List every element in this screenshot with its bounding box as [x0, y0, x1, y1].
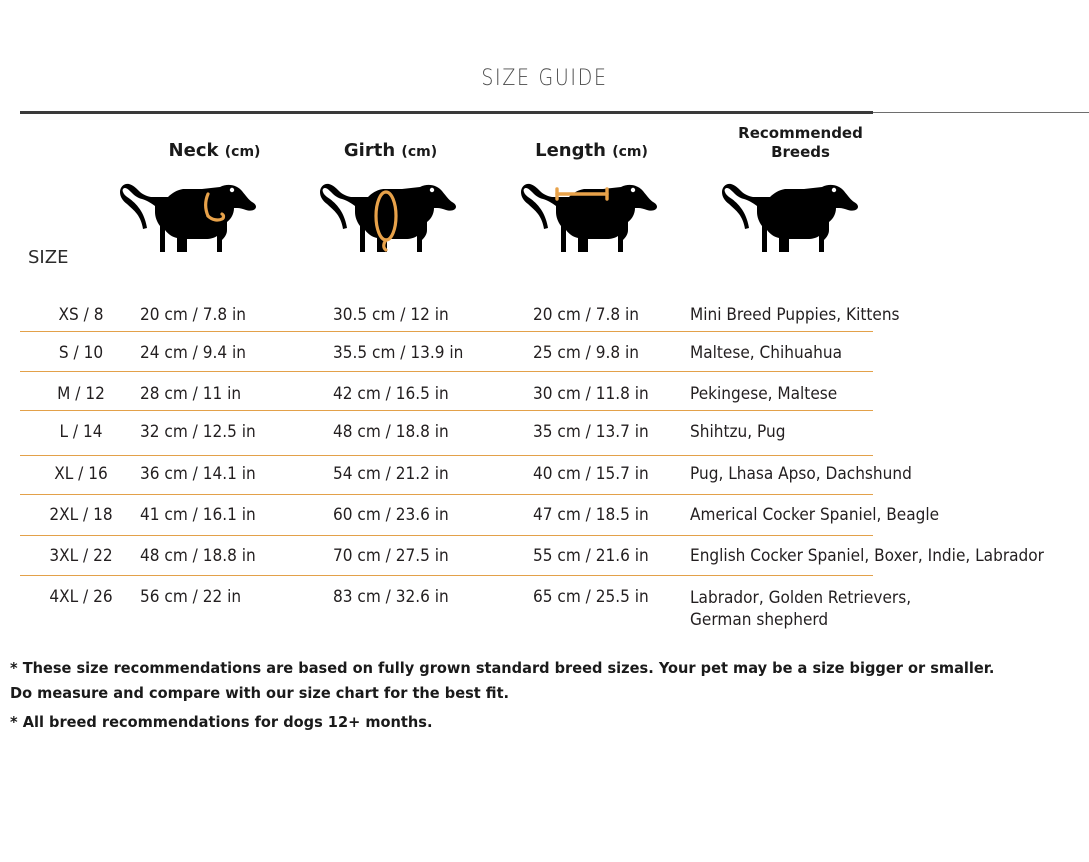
table-row: M / 12 28 cm / 11 in 42 cm / 16.5 in 30 … — [0, 384, 1089, 423]
cell-girth: 48 cm / 18.8 in — [333, 422, 449, 441]
header-rule — [20, 111, 873, 114]
cell-breeds: English Cocker Spaniel, Boxer, Indie, La… — [690, 546, 1044, 565]
row-divider — [20, 575, 873, 576]
footnote-breed-age: * All breed recommendations for dogs 12+… — [10, 710, 432, 735]
cell-length: 55 cm / 21.6 in — [533, 546, 649, 565]
cell-neck: 24 cm / 9.4 in — [140, 343, 246, 362]
page-title: SIZE GUIDE — [76, 66, 1013, 91]
table-row: 4XL / 26 56 cm / 22 in 83 cm / 32.6 in 6… — [0, 587, 1089, 643]
cell-breeds: Labrador, Golden Retrievers, German shep… — [690, 587, 911, 631]
cell-size: M / 12 — [30, 384, 132, 403]
cell-breeds: Pekingese, Maltese — [690, 384, 837, 403]
cell-size: S / 10 — [30, 343, 132, 362]
cell-girth: 70 cm / 27.5 in — [333, 546, 449, 565]
column-header-girth: Girth (cm) — [316, 140, 465, 161]
cell-length: 40 cm / 15.7 in — [533, 464, 649, 483]
dog-silhouette-icon-box — [718, 170, 867, 274]
dog-girth-measure-icon-box — [316, 170, 465, 274]
column-header-breeds-line2: Breeds — [718, 143, 883, 162]
cell-length: 30 cm / 11.8 in — [533, 384, 649, 403]
table-row: S / 10 24 cm / 9.4 in 35.5 cm / 13.9 in … — [0, 343, 1089, 382]
column-header-girth-label: Girth — [344, 140, 395, 161]
cell-girth: 35.5 cm / 13.9 in — [333, 343, 463, 362]
cell-size: 3XL / 22 — [30, 546, 132, 565]
row-divider — [20, 455, 873, 456]
cell-girth: 30.5 cm / 12 in — [333, 305, 449, 324]
table-row: XL / 16 36 cm / 14.1 in 54 cm / 21.2 in … — [0, 464, 1089, 503]
column-header-neck: Neck (cm) — [140, 140, 289, 161]
cell-breeds: Mini Breed Puppies, Kittens — [690, 305, 900, 324]
row-divider — [20, 410, 873, 411]
table-row: 3XL / 22 48 cm / 18.8 in 70 cm / 27.5 in… — [0, 546, 1089, 585]
cell-neck: 20 cm / 7.8 in — [140, 305, 246, 324]
cell-length: 20 cm / 7.8 in — [533, 305, 639, 324]
cell-breeds: Pug, Lhasa Apso, Dachshund — [690, 464, 912, 483]
cell-length: 25 cm / 9.8 in — [533, 343, 639, 362]
footnote-sizing: * These size recommendations are based o… — [10, 656, 994, 706]
cell-girth: 83 cm / 32.6 in — [333, 587, 449, 606]
dog-length-measure-icon — [517, 170, 663, 271]
cell-length: 35 cm / 13.7 in — [533, 422, 649, 441]
cell-neck: 56 cm / 22 in — [140, 587, 241, 606]
column-header-neck-unit: (cm) — [225, 144, 261, 160]
cell-neck: 48 cm / 18.8 in — [140, 546, 256, 565]
cell-size: XS / 8 — [30, 305, 132, 324]
row-divider — [20, 535, 873, 536]
column-header-length-unit: (cm) — [612, 144, 648, 160]
cell-neck: 41 cm / 16.1 in — [140, 505, 256, 524]
header-rule-extension — [873, 112, 1089, 113]
cell-girth: 60 cm / 23.6 in — [333, 505, 449, 524]
cell-size: 4XL / 26 — [30, 587, 132, 606]
column-header-length: Length (cm) — [517, 140, 666, 161]
cell-length: 65 cm / 25.5 in — [533, 587, 649, 606]
column-header-breeds-line1: Recommended — [718, 124, 883, 143]
size-column-label: SIZE — [28, 247, 68, 268]
cell-size: 2XL / 18 — [30, 505, 132, 524]
column-header-recommended-breeds: Recommended Breeds — [718, 124, 883, 162]
dog-silhouette-icon — [718, 170, 864, 271]
table-row: XS / 8 20 cm / 7.8 in 30.5 cm / 12 in 20… — [0, 305, 1089, 344]
cell-neck: 28 cm / 11 in — [140, 384, 241, 403]
cell-size: XL / 16 — [30, 464, 132, 483]
cell-size: L / 14 — [30, 422, 132, 441]
dog-girth-measure-icon — [316, 170, 462, 271]
table-row: 2XL / 18 41 cm / 16.1 in 60 cm / 23.6 in… — [0, 505, 1089, 544]
row-divider — [20, 331, 873, 332]
column-header-girth-unit: (cm) — [401, 144, 437, 160]
cell-neck: 32 cm / 12.5 in — [140, 422, 256, 441]
cell-breeds: Maltese, Chihuahua — [690, 343, 842, 362]
column-header-length-label: Length — [535, 140, 606, 161]
cell-neck: 36 cm / 14.1 in — [140, 464, 256, 483]
row-divider — [20, 371, 873, 372]
cell-girth: 42 cm / 16.5 in — [333, 384, 449, 403]
dog-neck-measure-icon-box — [116, 170, 265, 274]
cell-breeds: Americal Cocker Spaniel, Beagle — [690, 505, 939, 524]
dog-length-measure-icon-box — [517, 170, 666, 274]
column-header-neck-label: Neck — [169, 140, 219, 161]
cell-girth: 54 cm / 21.2 in — [333, 464, 449, 483]
row-divider — [20, 494, 873, 495]
dog-neck-measure-icon — [116, 170, 262, 271]
cell-length: 47 cm / 18.5 in — [533, 505, 649, 524]
cell-breeds: Shihtzu, Pug — [690, 422, 785, 441]
